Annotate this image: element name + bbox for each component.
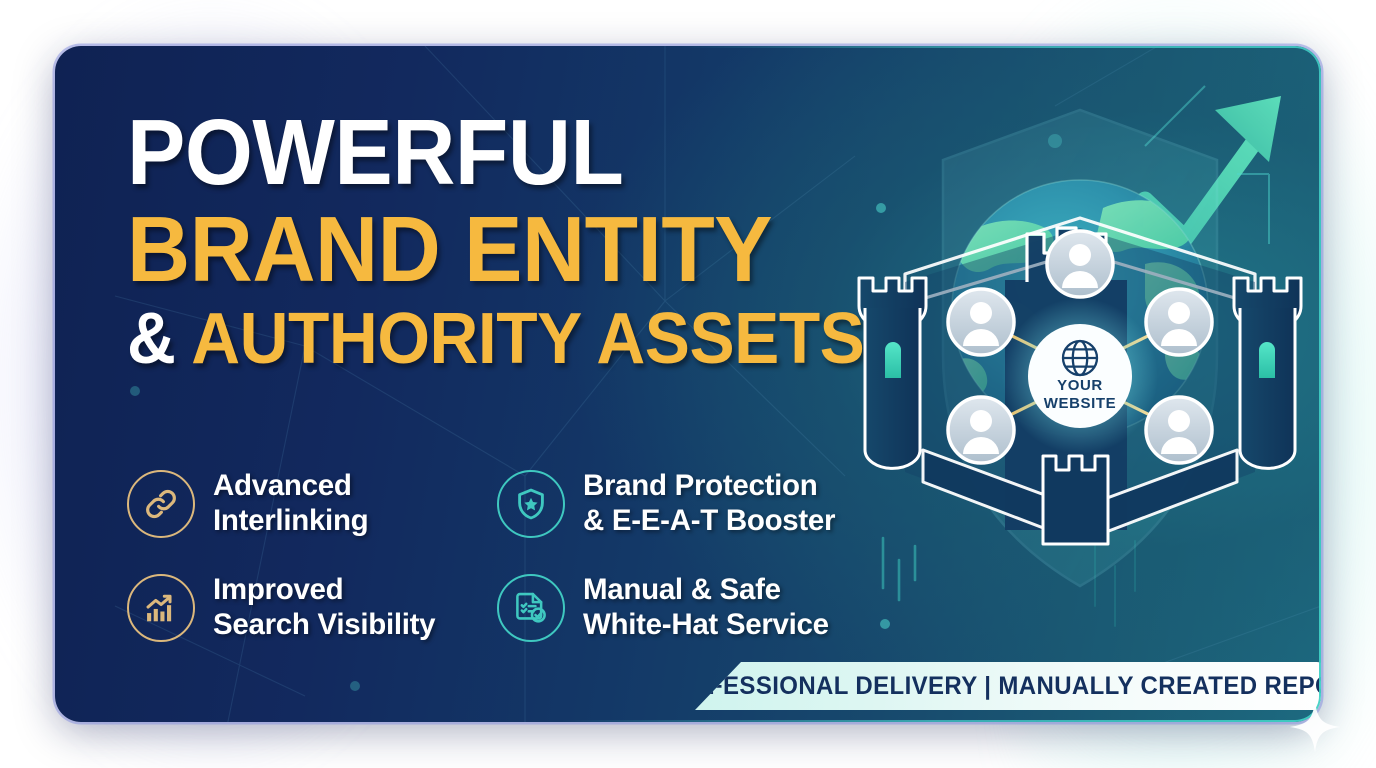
fortress-network-illustration: YOUR WEBSITE bbox=[845, 68, 1315, 668]
earth-globe-icon bbox=[952, 180, 1208, 436]
feature-line-1: Improved bbox=[213, 573, 343, 606]
feature-label: Brand Protection & E-E-A-T Booster bbox=[583, 469, 835, 539]
network-connector-lines bbox=[1000, 283, 1160, 468]
feature-line-2: White-Hat Service bbox=[583, 608, 829, 643]
castle-fortress-icon bbox=[859, 218, 1301, 544]
hub-label-line-2: WEBSITE bbox=[1044, 395, 1117, 412]
shield-outline-icon bbox=[943, 110, 1217, 586]
ribbon-label: PROFESSIONAL DELIVERY | MANUALLY CREATED… bbox=[655, 672, 1321, 701]
headline-line-3: & AUTHORITY ASSETS bbox=[127, 305, 841, 374]
feature-line-2: & E-E-A-T Booster bbox=[583, 504, 835, 539]
headline-line-3-text: AUTHORITY ASSETS bbox=[191, 299, 864, 379]
globe-icon bbox=[1063, 341, 1097, 375]
shield-star-icon bbox=[497, 470, 565, 538]
feature-manual-safe-service: Manual & Safe White-Hat Service bbox=[497, 558, 867, 658]
feature-improved-search-visibility: Improved Search Visibility bbox=[127, 558, 497, 658]
hub-label-line-1: YOUR bbox=[1057, 377, 1103, 394]
feature-line-1: Advanced bbox=[213, 469, 352, 502]
feature-line-2: Interlinking bbox=[213, 504, 368, 539]
headline-line-1: POWERFUL bbox=[127, 108, 841, 197]
user-avatar-nodes bbox=[948, 231, 1212, 463]
feature-label: Improved Search Visibility bbox=[213, 573, 435, 643]
feature-line-2: Search Visibility bbox=[213, 608, 435, 643]
feature-label: Manual & Safe White-Hat Service bbox=[583, 573, 829, 643]
delivery-ribbon: PROFESSIONAL DELIVERY | MANUALLY CREATED… bbox=[695, 662, 1321, 710]
banner-card: POWERFUL BRAND ENTITY & AUTHORITY ASSETS… bbox=[55, 46, 1321, 722]
feature-brand-protection: Brand Protection & E-E-A-T Booster bbox=[497, 454, 867, 554]
headline-block: POWERFUL BRAND ENTITY & AUTHORITY ASSETS bbox=[127, 108, 887, 374]
feature-line-1: Brand Protection bbox=[583, 469, 818, 502]
feature-label: Advanced Interlinking bbox=[213, 469, 368, 539]
growth-chart-icon bbox=[127, 574, 195, 642]
growth-arrow-icon bbox=[1103, 96, 1281, 256]
your-website-hub: YOUR WEBSITE bbox=[1002, 298, 1158, 454]
checklist-doc-icon bbox=[497, 574, 565, 642]
banner-stage: POWERFUL BRAND ENTITY & AUTHORITY ASSETS… bbox=[0, 0, 1376, 768]
feature-list: Advanced Interlinking Brand Protection &… bbox=[127, 454, 907, 658]
feature-line-1: Manual & Safe bbox=[583, 573, 781, 606]
headline-line-2: BRAND ENTITY bbox=[127, 205, 841, 294]
headline-ampersand: & bbox=[127, 299, 175, 379]
link-icon bbox=[127, 470, 195, 538]
feature-advanced-interlinking: Advanced Interlinking bbox=[127, 454, 497, 554]
